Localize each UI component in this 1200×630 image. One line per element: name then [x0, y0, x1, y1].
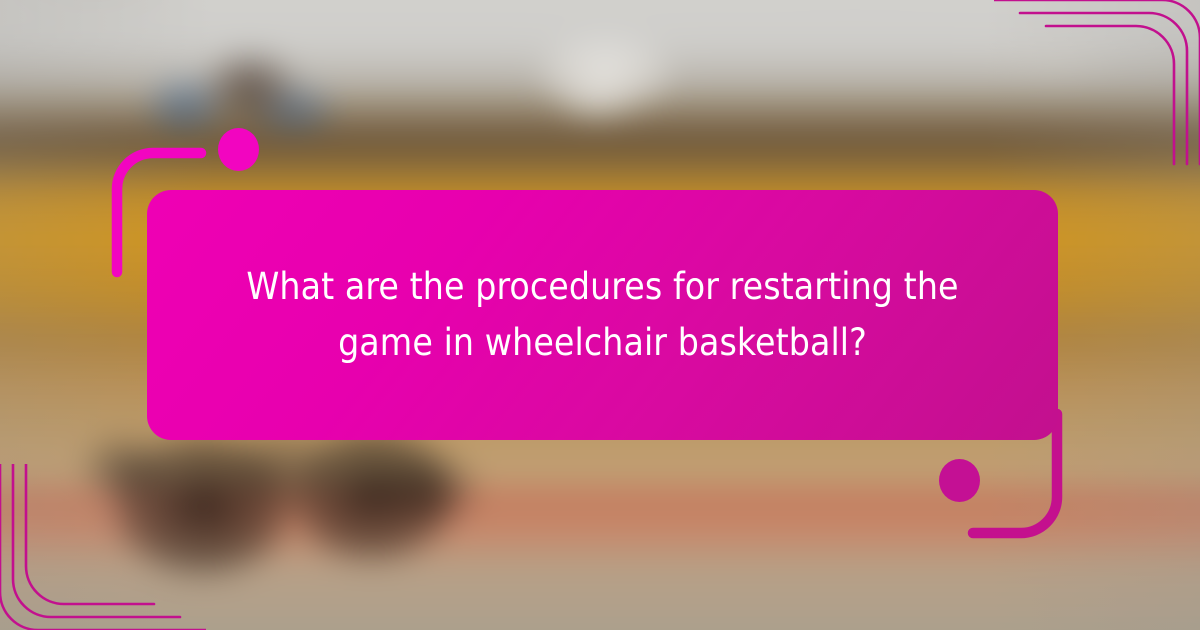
poster-canvas: What are the procedures for restarting t…	[0, 0, 1200, 630]
question-card: What are the procedures for restarting t…	[147, 190, 1058, 440]
question-text: What are the procedures for restarting t…	[225, 259, 980, 371]
